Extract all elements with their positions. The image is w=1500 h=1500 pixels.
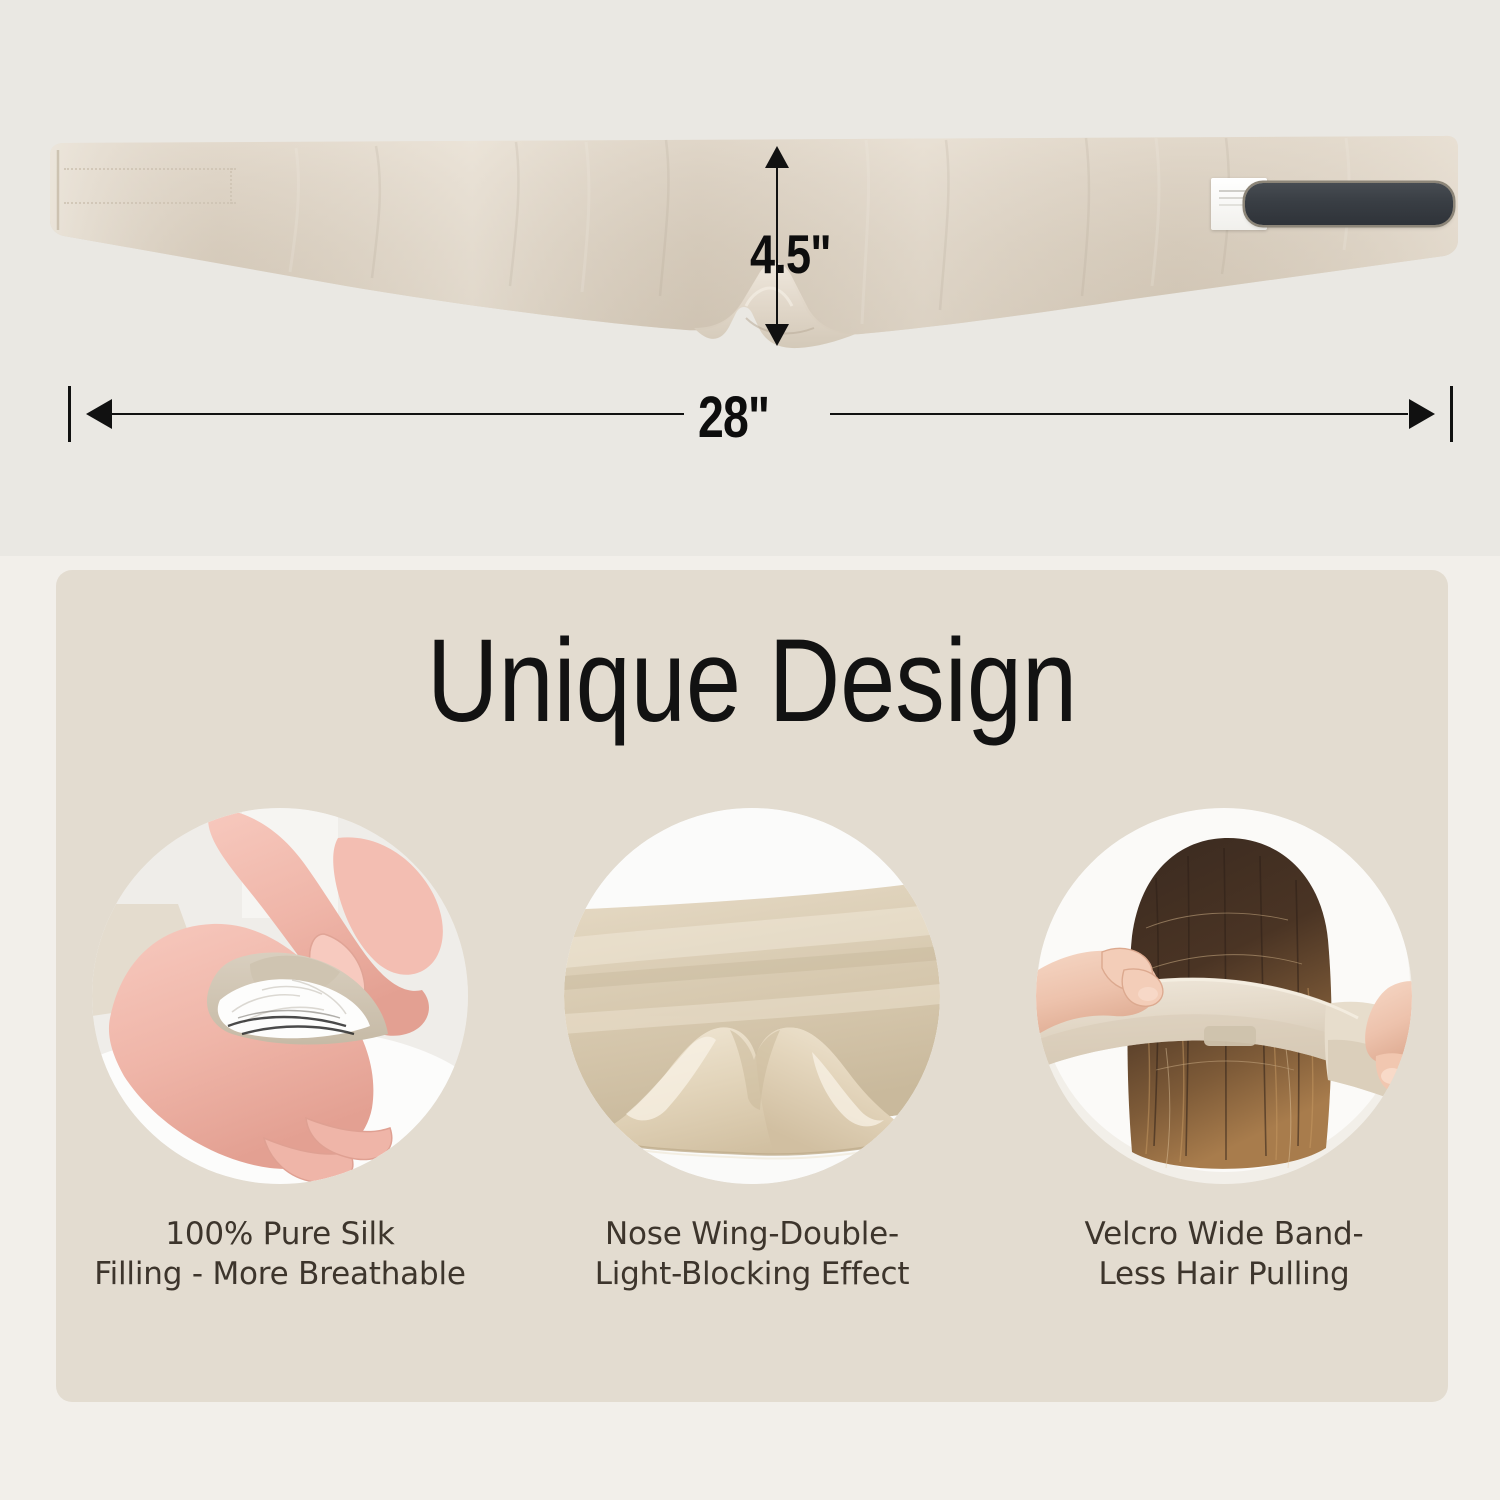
dimension-tick-left (68, 386, 71, 442)
dimension-line-right (830, 413, 1408, 415)
nose-wing-illustration (564, 808, 940, 1184)
velcro-band-illustration (1036, 808, 1412, 1184)
feature-card-velcro-band: Velcro Wide Band- Less Hair Pulling (1036, 808, 1412, 1295)
feature-card-silk-filling: 100% Pure Silk Filling - More Breathable (92, 808, 468, 1295)
hero-dimension-section: 4.5" 28" (0, 0, 1500, 556)
dimension-line-left (106, 413, 684, 415)
caption-line-1: Velcro Wide Band- (1085, 1214, 1364, 1254)
photo-silk-filling (92, 808, 468, 1184)
width-dimension-label: 28" (698, 384, 769, 451)
caption-nose-wing: Nose Wing-Double- Light-Blocking Effect (595, 1214, 910, 1295)
unique-design-panel: Unique Design (56, 570, 1448, 1402)
panel-title-text: Unique Design (427, 622, 1077, 740)
photo-nose-wing (564, 808, 940, 1184)
caption-velcro-band: Velcro Wide Band- Less Hair Pulling (1085, 1214, 1364, 1295)
caption-line-1: 100% Pure Silk (94, 1214, 466, 1254)
strap-stitch-bottom (64, 202, 236, 204)
arrow-down-icon (765, 324, 789, 346)
width-dimension-arrow: 28" (68, 386, 1453, 444)
caption-line-2: Light-Blocking Effect (595, 1254, 910, 1294)
caption-line-2: Less Hair Pulling (1085, 1254, 1364, 1294)
arrow-right-icon (1409, 399, 1435, 429)
velcro-strip (1245, 183, 1453, 225)
dimension-tick-right (1450, 386, 1453, 442)
caption-silk-filling: 100% Pure Silk Filling - More Breathable (94, 1214, 466, 1295)
feature-card-nose-wing: Nose Wing-Double- Light-Blocking Effect (564, 808, 940, 1295)
photo-velcro-band (1036, 808, 1412, 1184)
height-dimension-label: 4.5" (750, 222, 831, 286)
silk-filling-illustration (92, 808, 468, 1184)
caption-line-1: Nose Wing-Double- (595, 1214, 910, 1254)
feature-card-list: 100% Pure Silk Filling - More Breathable (56, 808, 1448, 1295)
caption-line-2: Filling - More Breathable (94, 1254, 466, 1294)
strap-stitch-end (230, 168, 232, 204)
strap-stitch-top (64, 168, 236, 170)
panel-title: Unique Design (56, 622, 1448, 740)
infographic-canvas: 4.5" 28" Unique Design (0, 0, 1500, 1500)
